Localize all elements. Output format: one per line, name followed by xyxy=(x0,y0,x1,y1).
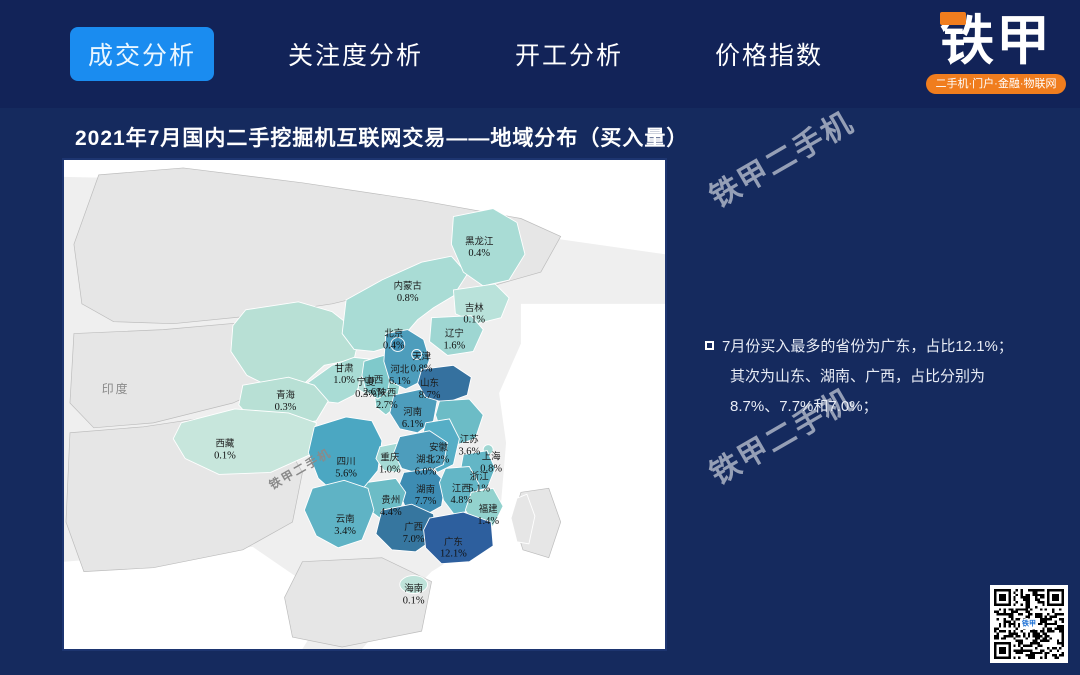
province-value-label: 1.6% xyxy=(444,340,466,351)
province-value-label: 0.3% xyxy=(355,389,377,400)
province-value-label: 0.1% xyxy=(463,315,485,326)
province-value-label: 6.0% xyxy=(415,466,437,477)
insight-line-3: 8.7%、7.7%和7.0%； xyxy=(730,392,1055,422)
province-value-label: 0.8% xyxy=(411,363,433,374)
province-name-label: 西藏 xyxy=(215,438,234,450)
tab-startup-analysis[interactable]: 开工分析 xyxy=(497,27,641,81)
province-name-label: 江西 xyxy=(452,483,471,494)
brand-logo[interactable]: 铁甲 二手机·门户·金融·物联网 xyxy=(926,10,1066,102)
nav-tab-list: 成交分析 关注度分析 开工分析 价格指数 xyxy=(70,0,897,108)
page-title: 2021年7月国内二手挖掘机互联网交易——地域分布（买入量） xyxy=(75,122,688,152)
province-name-label: 宁夏 xyxy=(357,376,376,388)
province-value-label: 0.8% xyxy=(397,293,419,304)
insight-line-2: 其次为山东、湖南、广西，占比分别为 xyxy=(730,362,1055,392)
top-nav-bar: 成交分析 关注度分析 开工分析 价格指数 铁甲 二手机·门户·金融·物联网 xyxy=(0,0,1080,108)
province-name-label: 广东 xyxy=(444,536,463,548)
province-value-label: 6.1% xyxy=(389,376,411,387)
country-name-label: 印度 xyxy=(102,382,130,396)
province-value-label: 12.1% xyxy=(440,549,467,560)
province-name-label: 重庆 xyxy=(380,452,399,464)
province-value-label: 0.1% xyxy=(214,451,236,462)
province-value-label: 3.6% xyxy=(458,447,480,458)
province-value-label: 0.4% xyxy=(468,248,490,259)
tab-price-index[interactable]: 价格指数 xyxy=(697,27,841,81)
province-value-label: 7.7% xyxy=(415,496,437,507)
province-name-label: 云南 xyxy=(336,513,355,525)
logo-wordmark: 铁甲 xyxy=(926,10,1066,72)
province-value-label: 0.3% xyxy=(275,402,297,413)
province-name-label: 安徽 xyxy=(429,442,448,454)
qr-center-badge: 铁甲 xyxy=(1020,619,1038,630)
province-value-label: 5.1% xyxy=(468,483,490,494)
insight-line-1: 7月份买入最多的省份为广东，占比12.1%； xyxy=(722,338,1013,355)
province-name-label: 湖北 xyxy=(416,455,435,466)
province-name-label: 吉林 xyxy=(465,302,484,314)
province-value-label: 1.4% xyxy=(477,516,499,527)
choropleth-map-panel[interactable]: 黑龙江0.4%内蒙古0.8%吉林0.1%辽宁1.6%北京0.4%天津0.8%河北… xyxy=(62,158,667,651)
qr-code[interactable]: 铁甲 xyxy=(990,585,1068,663)
province-name-label: 北京 xyxy=(384,328,403,340)
province-value-label: 7.0% xyxy=(403,534,425,545)
province-value-label: 4.8% xyxy=(451,495,473,506)
province-value-label: 8.7% xyxy=(419,390,441,401)
china-choropleth-map[interactable]: 黑龙江0.4%内蒙古0.8%吉林0.1%辽宁1.6%北京0.4%天津0.8%河北… xyxy=(64,160,665,649)
insight-callout: 7月份买入最多的省份为广东，占比12.1%； 其次为山东、湖南、广西，占比分别为… xyxy=(705,332,1055,422)
province-value-label: 5.6% xyxy=(335,468,357,479)
province-name-label: 河南 xyxy=(403,406,422,418)
province-value-label: 3.4% xyxy=(334,526,356,537)
logo-accent-bar xyxy=(940,12,966,25)
province-name-label: 江苏 xyxy=(460,434,479,446)
province-name-label: 甘肃 xyxy=(335,362,354,374)
province-name-label: 贵州 xyxy=(381,494,400,506)
province-value-label: 6.1% xyxy=(402,419,424,430)
watermark-text: 铁甲二手机 xyxy=(700,98,861,216)
province-name-label: 浙江 xyxy=(470,470,489,482)
province-name-label: 广西 xyxy=(404,521,423,533)
province-name-label: 四川 xyxy=(337,457,356,468)
province-value-label: 0.1% xyxy=(403,595,425,606)
tab-transaction-analysis[interactable]: 成交分析 xyxy=(70,27,214,81)
province-name-label: 福建 xyxy=(479,503,498,515)
province-name-label: 河北 xyxy=(390,363,409,375)
province-value-label: 4.4% xyxy=(380,507,402,518)
province-value-label: 1.0% xyxy=(333,375,355,386)
province-name-label: 陕西 xyxy=(377,387,396,399)
province-name-label: 山东 xyxy=(420,377,439,389)
province-name-label: 湖南 xyxy=(416,483,435,495)
province-name-label: 天津 xyxy=(412,351,431,362)
province-name-label: 上海 xyxy=(482,451,501,463)
province-name-label: 青海 xyxy=(276,389,295,401)
province-name-label: 内蒙古 xyxy=(394,280,422,292)
province-name-label: 海南 xyxy=(404,582,423,594)
bullet-square-icon xyxy=(705,341,714,350)
province-name-label: 黑龙江 xyxy=(465,235,494,247)
province-value-label: 1.0% xyxy=(379,464,401,475)
logo-tagline: 二手机·门户·金融·物联网 xyxy=(926,74,1066,94)
province-value-label: 0.4% xyxy=(383,340,405,351)
tab-attention-analysis[interactable]: 关注度分析 xyxy=(270,27,441,81)
province-name-label: 辽宁 xyxy=(445,328,464,340)
province-value-label: 2.7% xyxy=(376,400,398,411)
